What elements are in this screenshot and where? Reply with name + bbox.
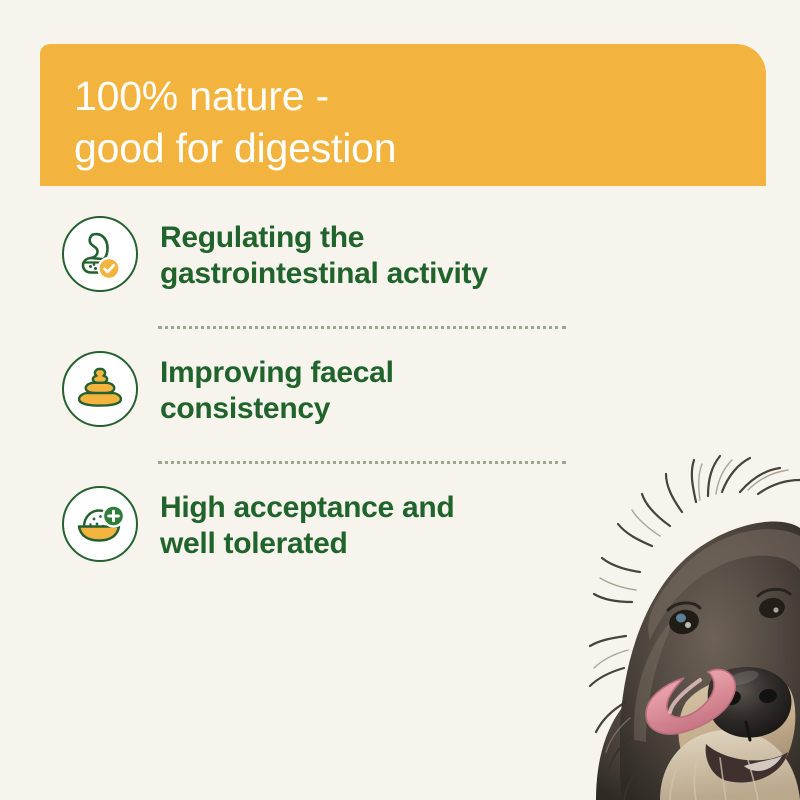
feature-label: Improving faecal consistency: [160, 347, 394, 427]
promo-card: 100% nature - good for digestion: [0, 0, 800, 800]
feature-row: Improving faecal consistency: [62, 347, 582, 443]
feature-divider: [158, 461, 566, 464]
feature-divider: [158, 326, 566, 329]
feature-label: High acceptance and well tolerated: [160, 482, 454, 562]
feature-row: High acceptance and well tolerated: [62, 482, 582, 578]
stomach-check-icon: [62, 216, 138, 292]
banner-title: 100% nature - good for digestion: [74, 70, 766, 174]
feature-row: Regulating the gastrointestinal activity: [62, 212, 582, 308]
food-bowl-plus-icon: [62, 486, 138, 562]
stool-icon: [62, 351, 138, 427]
feature-label: Regulating the gastrointestinal activity: [160, 212, 488, 292]
header-banner: 100% nature - good for digestion: [40, 44, 766, 186]
feature-list: Regulating the gastrointestinal activity…: [62, 212, 582, 578]
